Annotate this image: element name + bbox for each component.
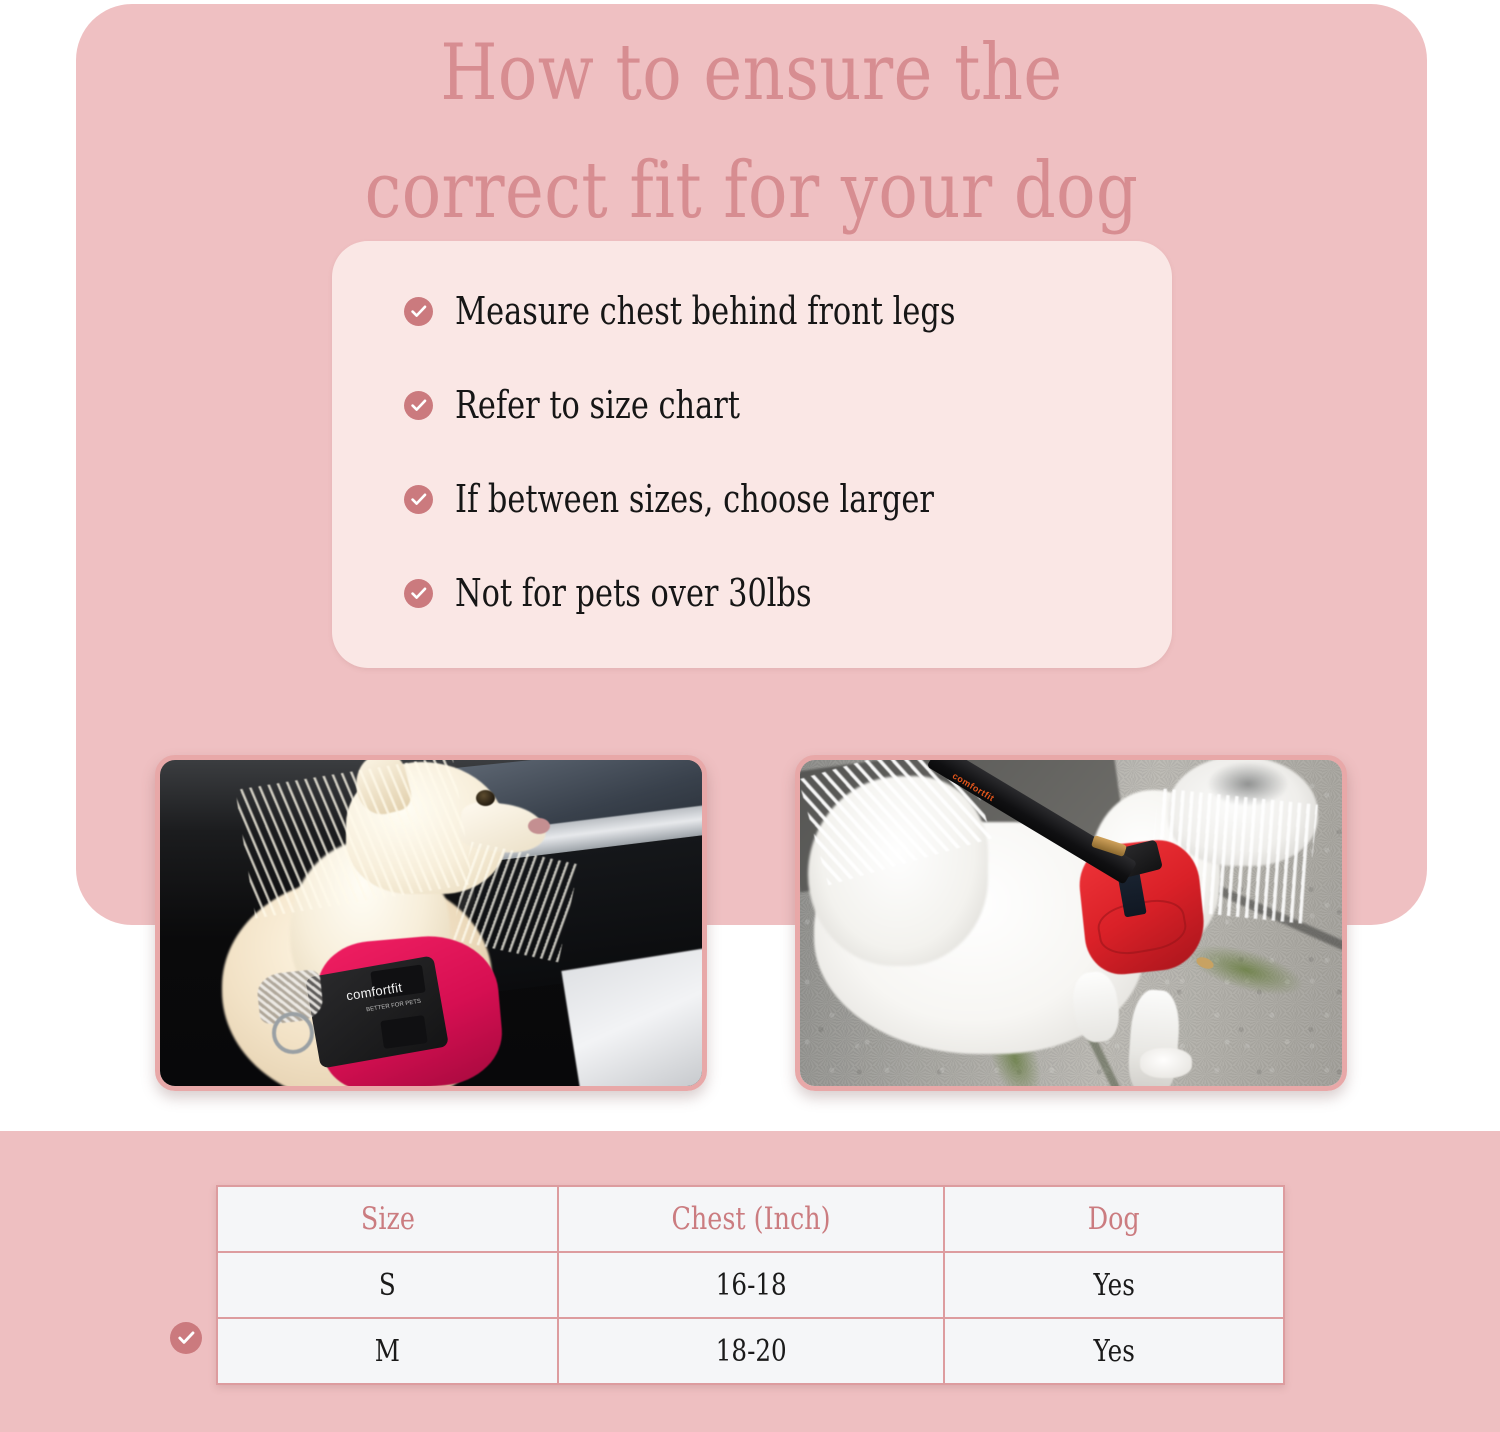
dog-nose xyxy=(528,818,550,834)
check-circle-icon xyxy=(404,579,433,608)
tip-text: Measure chest behind front legs xyxy=(455,290,955,332)
column-header-chest: Chest (Inch) xyxy=(558,1186,944,1252)
table-header-row: Size Chest (Inch) Dog xyxy=(217,1186,1284,1252)
leash-d-ring xyxy=(272,1012,314,1054)
tip-text: If between sizes, choose larger xyxy=(455,478,934,520)
table-row[interactable]: S 16-18 Yes xyxy=(217,1252,1284,1318)
list-item: Not for pets over 30lbs xyxy=(404,572,901,614)
cell-size: M xyxy=(217,1318,558,1384)
check-circle-icon xyxy=(404,485,433,514)
check-circle-icon xyxy=(404,297,433,326)
photo-dog-red-harness-on-pavement: comfortfit comfortfit xyxy=(795,755,1347,1091)
cell-dog: Yes xyxy=(944,1318,1284,1384)
column-header-dog: Dog xyxy=(944,1186,1284,1252)
cell-chest: 18-20 xyxy=(558,1318,944,1384)
list-item: If between sizes, choose larger xyxy=(404,478,1054,520)
fit-tips-box: Measure chest behind front legs Refer to… xyxy=(332,241,1172,668)
photo-content: comfortfit BETTER FOR PETS xyxy=(160,760,702,1086)
table-row[interactable]: M 18-20 Yes xyxy=(217,1318,1284,1384)
list-item: Refer to size chart xyxy=(404,384,811,426)
check-circle-icon xyxy=(404,391,433,420)
cell-size: S xyxy=(217,1252,558,1318)
dog-eye xyxy=(476,790,495,806)
dog-paw xyxy=(1140,1048,1192,1078)
page-title: How to ensure the correct fit for your d… xyxy=(184,14,1319,250)
tip-text: Refer to size chart xyxy=(455,384,740,426)
list-item: Measure chest behind front legs xyxy=(404,290,1081,332)
column-header-size: Size xyxy=(217,1186,558,1252)
photo-content: comfortfit comfortfit xyxy=(800,760,1342,1086)
selected-row-check-circle-icon xyxy=(170,1322,202,1354)
cell-dog: Yes xyxy=(944,1252,1284,1318)
photo-dog-pink-harness-in-car: comfortfit BETTER FOR PETS xyxy=(155,755,707,1091)
tip-text: Not for pets over 30lbs xyxy=(455,572,812,614)
cell-chest: 16-18 xyxy=(558,1252,944,1318)
size-chart-table: Size Chest (Inch) Dog S 16-18 Yes M 18-2… xyxy=(216,1185,1285,1385)
